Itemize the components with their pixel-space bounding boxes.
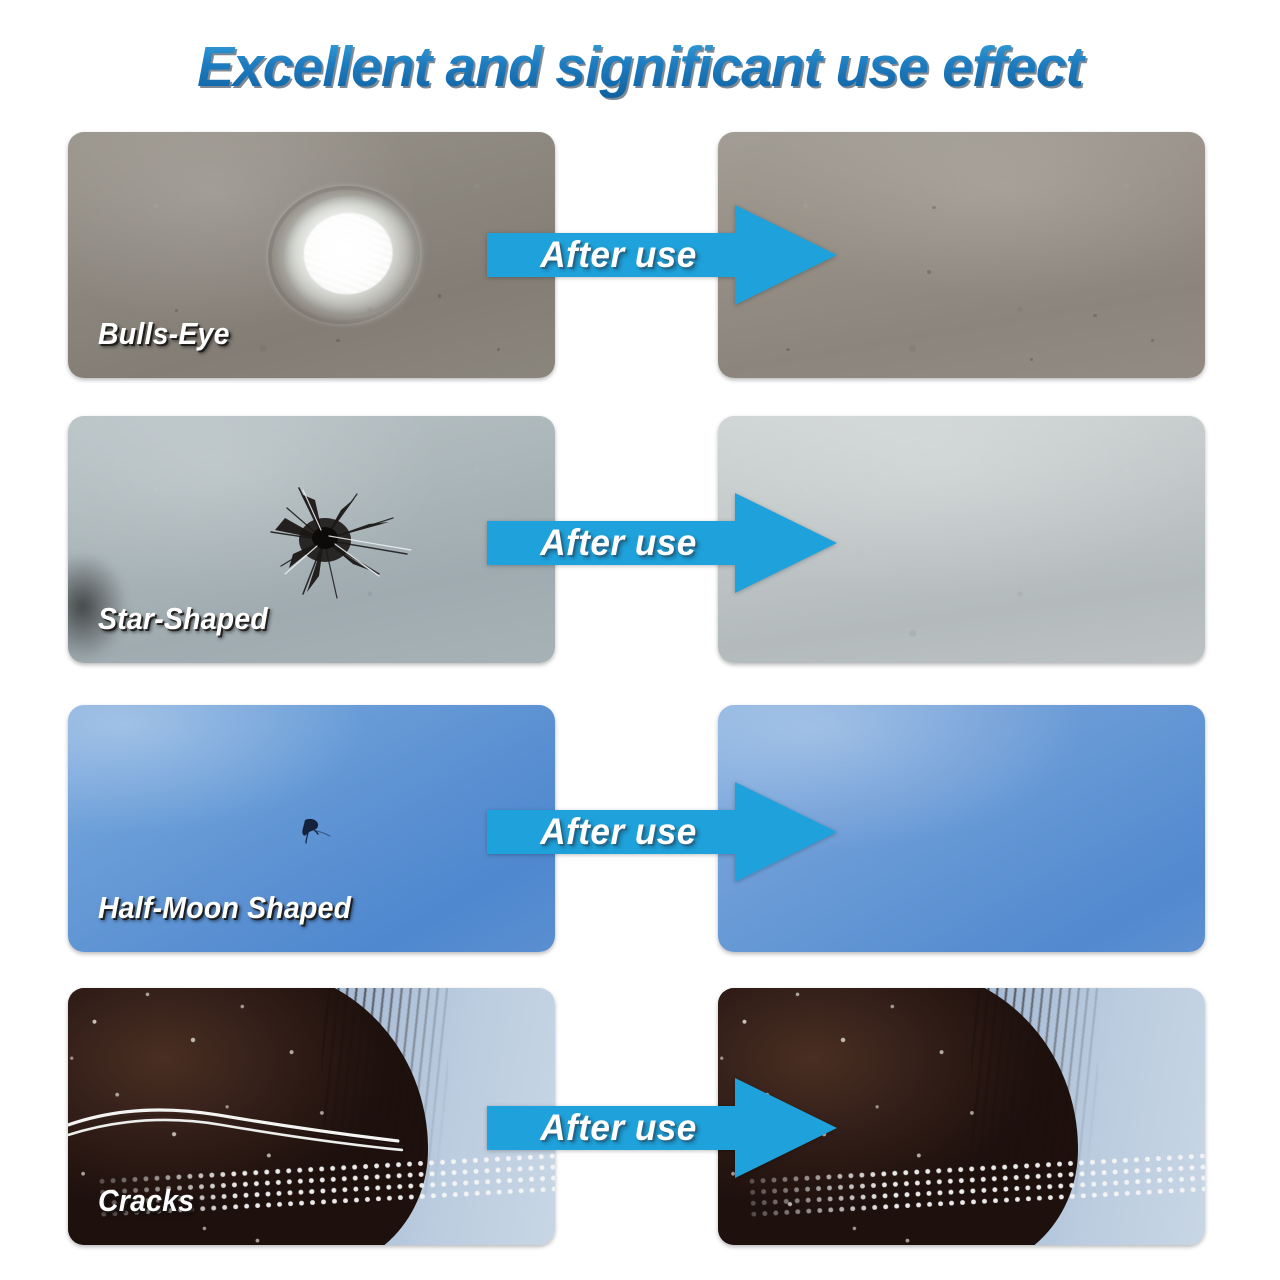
after-use-arrow-bulls-eye: After use (487, 199, 837, 311)
effect-comparison-page: Excellent and significant use effect Bul… (0, 0, 1280, 1280)
before-image-star-shaped: Star-Shaped (68, 416, 555, 663)
half-moon-chip-graphic (297, 814, 327, 844)
right-arrow-icon (487, 487, 837, 599)
before-label-half-moon: Half-Moon Shaped (98, 890, 351, 926)
before-label-cracks: Cracks (98, 1183, 194, 1219)
before-image-half-moon: Half-Moon Shaped (68, 705, 555, 952)
before-label-bulls-eye: Bulls-Eye (98, 316, 230, 352)
after-use-arrow-star-shaped: After use (487, 487, 837, 599)
right-arrow-icon (487, 1072, 837, 1184)
star-crack-graphic (229, 470, 429, 610)
before-image-cracks: Cracks (68, 988, 555, 1245)
right-arrow-icon (487, 776, 837, 888)
page-title: Excellent and significant use effect (19, 34, 1261, 100)
after-use-arrow-cracks: After use (487, 1072, 837, 1184)
before-image-bulls-eye: Bulls-Eye (68, 132, 555, 378)
crack-graphic (68, 1091, 448, 1163)
after-use-arrow-half-moon: After use (487, 776, 837, 888)
before-label-star-shaped: Star-Shaped (98, 601, 268, 637)
right-arrow-icon (487, 199, 837, 311)
